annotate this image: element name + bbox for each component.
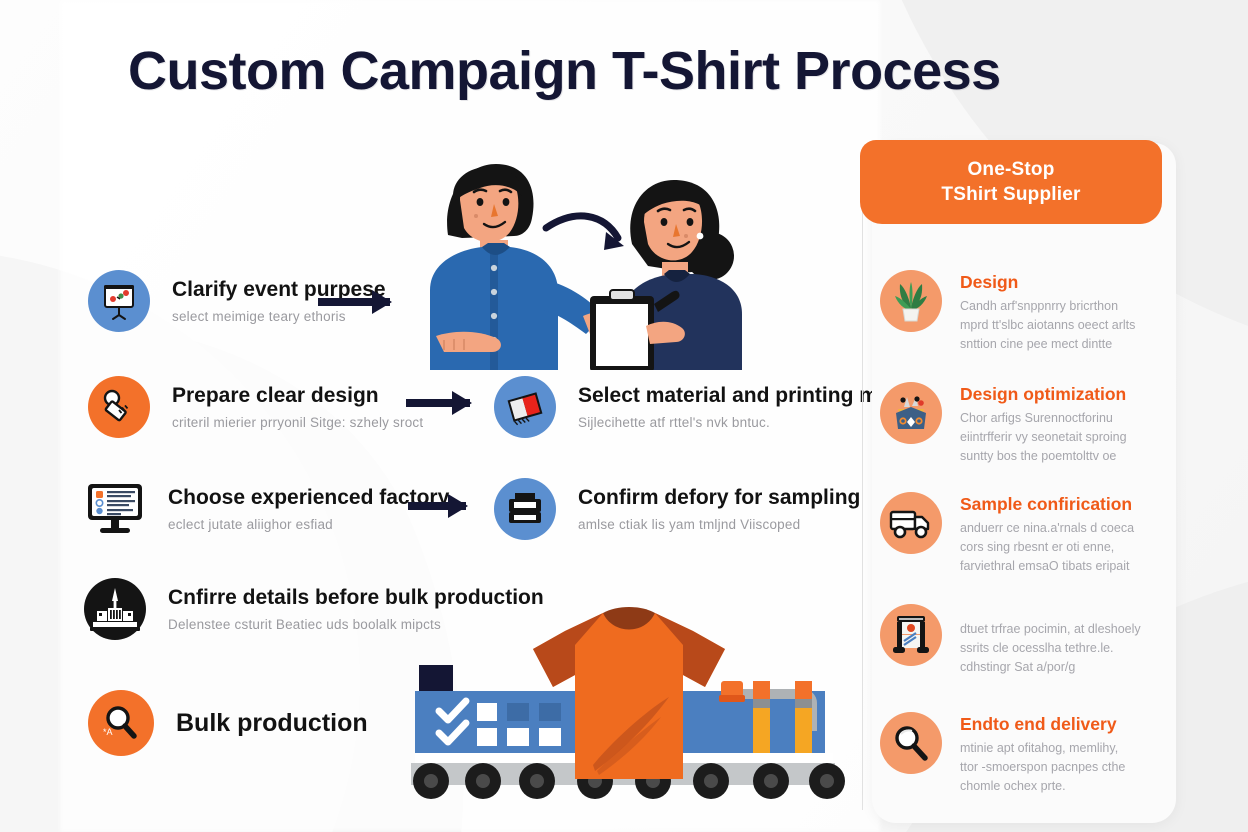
step-row-prepare-clear-design[interactable]: Prepare clear design criteril mierier pr… [88, 376, 423, 438]
step-text-group: Bulk production [176, 709, 368, 738]
delivery-truck-icon [880, 492, 942, 554]
sidebar-item-line: Candh arf'snppnrry bricrthon [960, 297, 1135, 316]
step-heading: Prepare clear design [172, 384, 423, 408]
sidebar-item-line: eiintrfferir vy seonetait sproing [960, 428, 1127, 447]
sidebar-header-line2: TShirt Supplier [941, 182, 1080, 207]
ruler-pen-icon [88, 376, 150, 438]
sidebar-header-line1: One-Stop [967, 157, 1054, 182]
step-text-group: Confirm defory for sampling amlse ctiak … [578, 486, 860, 532]
tshirt-production-line-illustration [405, 585, 855, 815]
sidebar-item-line: chomle ochex prte. [960, 777, 1125, 796]
sidebar-item-line: Chor arfigs Surennoctforinu [960, 409, 1127, 428]
infographic-poster: Custom Campaign T-Shirt Process Clarify … [0, 0, 1248, 832]
sidebar-item-line: ssrits cle ocesslha tethre.le. [960, 639, 1141, 658]
potted-plant-icon [880, 270, 942, 332]
sidebar-item-line: suntty bos the poemtolttv oe [960, 447, 1127, 466]
sidebar-item-sample-confirmation[interactable]: Sample confirication anduerr ce nina.a'r… [880, 492, 1134, 576]
sidebar-item-line: mprd tt'slbc aiotanns oeect arlts [960, 316, 1135, 335]
magnifier-search-icon: *A [88, 690, 154, 756]
step-text-group: Prepare clear design criteril mierier pr… [172, 384, 423, 430]
flow-arrow-2 [406, 399, 470, 407]
sidebar-text-group: dtuet trfrae pocimin, at dleshoely ssrit… [960, 604, 1141, 677]
step-row-bulk-production[interactable]: *A Bulk production [88, 690, 368, 756]
step-row-choose-experienced-factory[interactable]: Choose experienced factory eclect jutate… [84, 478, 449, 540]
sidebar-item-heading: Sample confirication [960, 494, 1134, 515]
sidebar-item-line: snttion cine pee mect dintte [960, 335, 1135, 354]
step-row-select-material-printing-method[interactable]: Select material and printing method Sijl… [494, 376, 935, 438]
sidebar-item-line: mtinie apt ofitahog, memlihy, [960, 739, 1125, 758]
sidebar-item-line: cdhstingr Sat a/por/g [960, 658, 1141, 677]
sidebar-item-heading: Design optimization [960, 384, 1127, 405]
toolbox-pencils-icon [880, 382, 942, 444]
fabric-swatch-icon [494, 376, 556, 438]
sidebar-text-group: Design optimization Chor arfigs Surennoc… [960, 382, 1127, 466]
sidebar-item-heading: Design [960, 272, 1135, 293]
sidebar-text-group: Endto end delivery mtinie apt ofitahog, … [960, 712, 1125, 796]
sidebar-item-design-optimization[interactable]: Design optimization Chor arfigs Surennoc… [880, 382, 1127, 466]
step-heading: Confirm defory for sampling [578, 486, 860, 510]
two-people-discussing-illustration [418, 140, 748, 370]
sidebar-item-line: anduerr ce nina.a'rnals d coeca [960, 519, 1134, 538]
magnifier-glass-icon [880, 712, 942, 774]
sidebar-text-group: Sample confirication anduerr ce nina.a'r… [960, 492, 1134, 576]
sidebar-divider [862, 150, 863, 810]
sidebar-item-line: dtuet trfrae pocimin, at dleshoely [960, 620, 1141, 639]
sidebar-header: One-Stop TShirt Supplier [860, 140, 1162, 224]
desktop-monitor-icon [84, 478, 146, 540]
step-subtitle: select meimige teary ethoris [172, 309, 386, 324]
step-subtitle: criteril mierier prryonil Sitge: szhely … [172, 415, 423, 430]
step-heading: Bulk production [176, 709, 368, 738]
step-subtitle: amlse ctiak lis yam tmljnd Viiscoped [578, 517, 860, 532]
sidebar-item-line: cors sing rbesnt er oti enne, [960, 538, 1134, 557]
step-row-confirm-factory-for-sampling[interactable]: Confirm defory for sampling amlse ctiak … [494, 478, 860, 540]
step-subtitle: eclect jutate aliighor esfiad [168, 517, 449, 532]
shelf-rack-icon [880, 604, 942, 666]
svg-text:*A: *A [103, 727, 113, 737]
flow-arrow-1 [318, 298, 390, 306]
sidebar-text-group: Design Candh arf'snppnrry bricrthon mprd… [960, 270, 1135, 354]
sidebar-item-heading: Endto end delivery [960, 714, 1125, 735]
flow-arrow-3 [408, 502, 466, 510]
sidebar-item-shelf-rack[interactable]: dtuet trfrae pocimin, at dleshoely ssrit… [880, 604, 1141, 677]
sidebar-item-line: ttor -smoerspon pacnpes cthe [960, 758, 1125, 777]
presentation-board-icon [88, 270, 150, 332]
sidebar-item-design[interactable]: Design Candh arf'snppnrry bricrthon mprd… [880, 270, 1135, 354]
factory-building-icon [84, 578, 146, 640]
sidebar-item-end-to-end-delivery[interactable]: Endto end delivery mtinie apt ofitahog, … [880, 712, 1125, 796]
sidebar-item-line: farviethral emsaO tibats eripait [960, 557, 1134, 576]
page-title: Custom Campaign T-Shirt Process [128, 40, 1001, 102]
printer-icon [494, 478, 556, 540]
